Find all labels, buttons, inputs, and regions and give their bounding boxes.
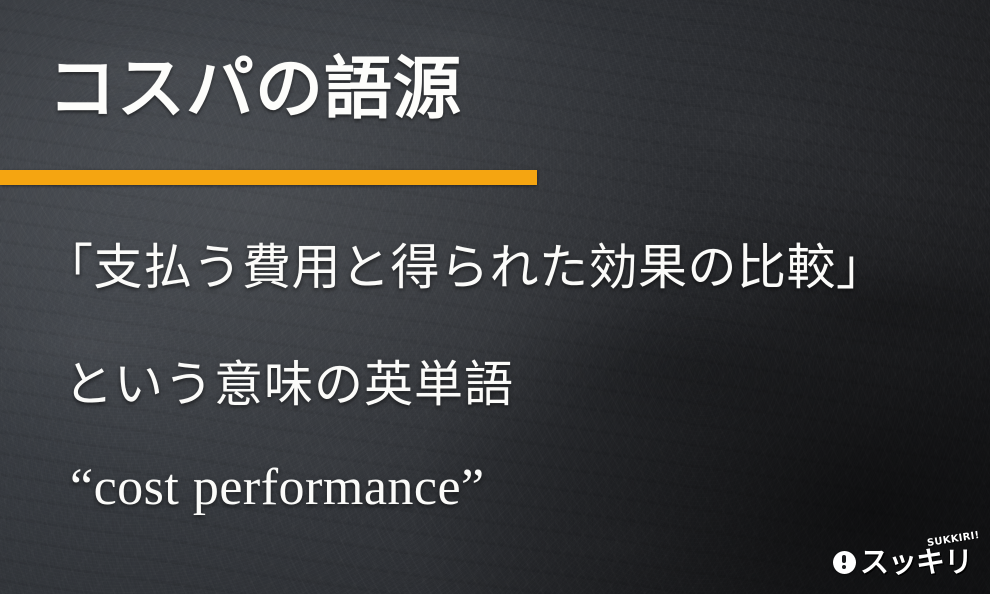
body-line-1: 「支払う費用と得られた効果の比較」 (44, 228, 886, 299)
body-line-2: という意味の英単語 (64, 345, 514, 416)
body-line-3-english-term: “cost performance” (70, 458, 485, 517)
exclamation-circle-icon (833, 551, 856, 574)
title-accent-rule (0, 170, 537, 185)
logo-wordmark-group: SUKKIRI! スッキリ (860, 548, 976, 577)
sukkiri-logo: SUKKIRI! スッキリ (833, 540, 976, 584)
logo-wordmark: スッキリ (860, 545, 972, 579)
slide-content: コスパの語源 「支払う費用と得られた効果の比較」 という意味の英単語 “cost… (0, 0, 990, 594)
chalkboard-slide: コスパの語源 「支払う費用と得られた効果の比較」 という意味の英単語 “cost… (0, 0, 990, 594)
slide-title: コスパの語源 (48, 55, 462, 123)
